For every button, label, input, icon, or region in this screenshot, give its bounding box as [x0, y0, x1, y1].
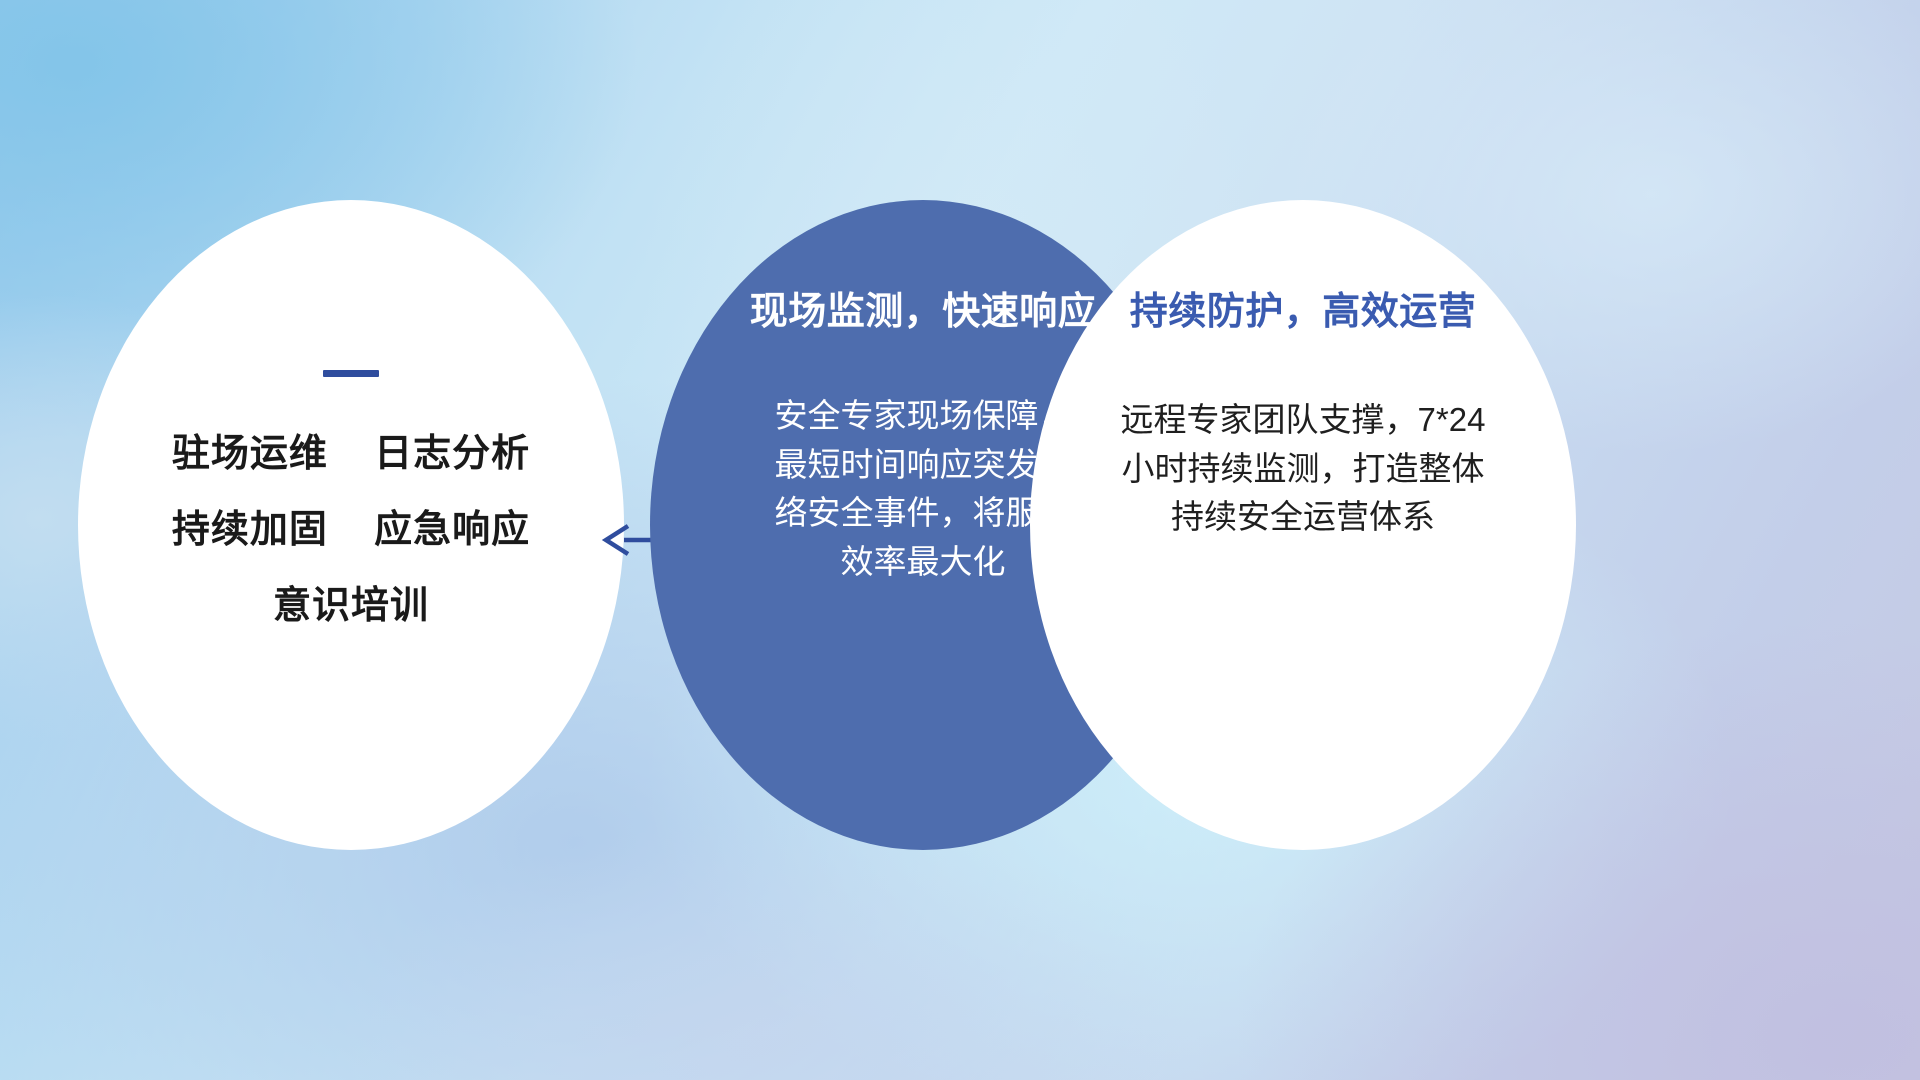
slide-canvas: 驻场运维 日志分析 持续加固 应急响应 意识培训 现场监测，快速响应 安全专家现…	[0, 0, 1920, 1080]
left-circle-content: 驻场运维 日志分析 持续加固 应急响应 意识培训	[78, 370, 624, 625]
accent-dash-icon	[323, 370, 379, 377]
left-keyword-line-1: 驻场运维 日志分析	[78, 435, 624, 473]
right-body-line-1: 远程专家团队支撑，7*24	[1078, 396, 1528, 445]
right-circle-content: 持续防护，高效运营 远程专家团队支撑，7*24 小时持续监测，打造整体 持续安全…	[1030, 292, 1576, 542]
right-body-line-3: 持续安全运营体系	[1078, 493, 1528, 542]
right-body-line-2: 小时持续监测，打造整体	[1078, 445, 1528, 494]
right-circle-title: 持续防护，高效运营	[1030, 292, 1576, 334]
right-circle-body: 远程专家团队支撑，7*24 小时持续监测，打造整体 持续安全运营体系	[1030, 396, 1576, 542]
left-keyword-line-3: 意识培训	[78, 587, 624, 625]
left-keyword-line-2: 持续加固 应急响应	[78, 511, 624, 549]
